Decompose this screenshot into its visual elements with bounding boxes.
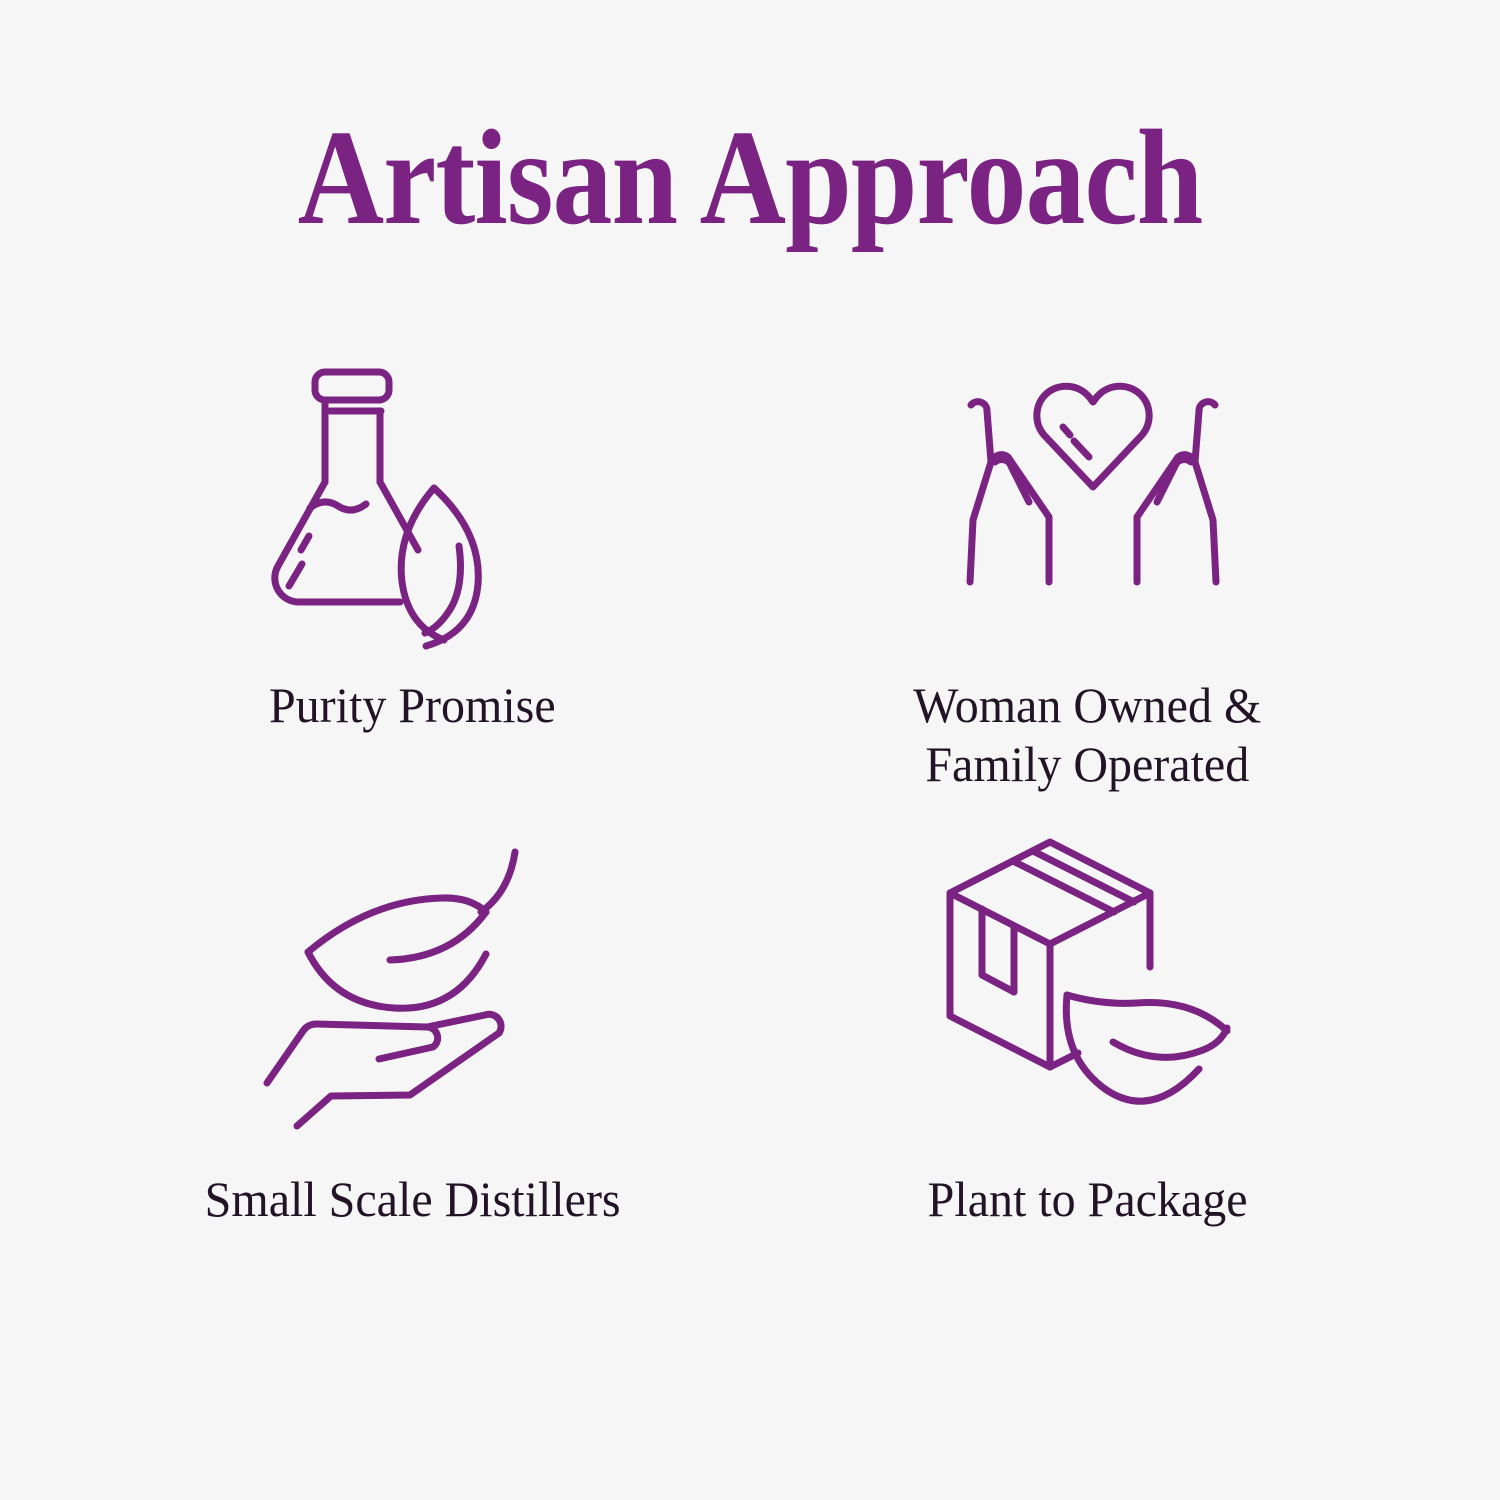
feature-item-woman-owned-family-operated: Woman Owned & Family Operated xyxy=(750,350,1425,830)
feature-grid: Purity Promise xyxy=(75,350,1425,1310)
artisan-approach-panel: Artisan Approach xyxy=(0,0,1500,1500)
page-title: Artisan Approach xyxy=(298,110,1203,246)
feature-item-purity-promise: Purity Promise xyxy=(75,350,750,830)
hands-holding-heart-icon xyxy=(943,350,1243,650)
feature-label: Purity Promise xyxy=(269,676,556,735)
feature-item-small-scale-distillers: Small Scale Distillers xyxy=(75,830,750,1310)
leaf-in-hand-icon xyxy=(259,830,559,1130)
feature-item-plant-to-package: Plant to Package xyxy=(750,830,1425,1310)
feature-label: Woman Owned & Family Operated xyxy=(913,676,1261,793)
feature-label: Small Scale Distillers xyxy=(205,1170,621,1229)
package-box-leaf-icon xyxy=(938,830,1238,1130)
feature-label: Plant to Package xyxy=(928,1170,1248,1229)
flask-leaf-icon xyxy=(268,350,568,650)
page-title-container: Artisan Approach xyxy=(0,110,1500,246)
